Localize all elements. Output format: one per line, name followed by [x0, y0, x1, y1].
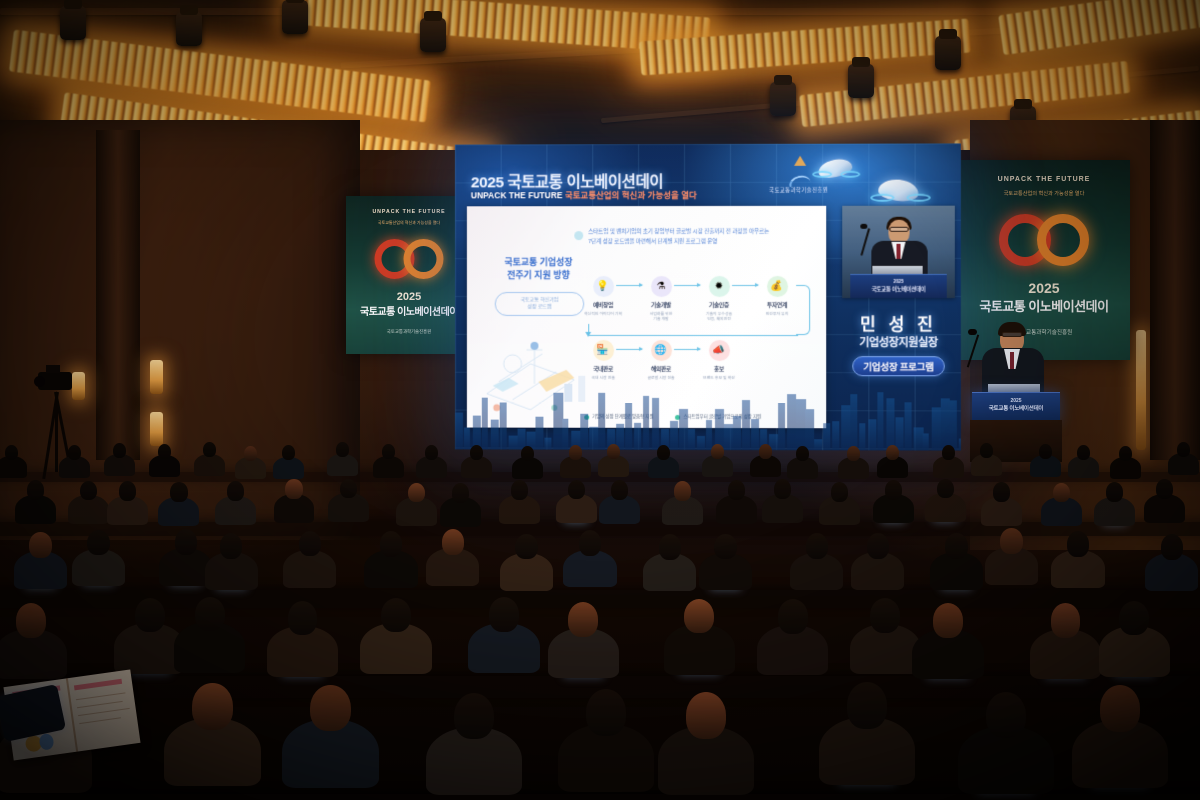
roadmap-pill: 국토교통 혁신기업 성장 로드맵 [495, 292, 585, 316]
audience-member-head [80, 481, 97, 501]
audience-member-head [336, 442, 349, 457]
audience-member-head [1100, 685, 1140, 732]
audience-member-head [220, 533, 242, 559]
audience-member-head [470, 445, 483, 460]
audience-member-head [454, 693, 494, 740]
flow-node-desc: 글로벌 시장 진출 [632, 374, 690, 380]
banner-en-tagline: UNPACK THE FUTURE [346, 209, 472, 215]
audience-member-head [29, 532, 51, 558]
infinity-logo [999, 214, 1089, 266]
audience-member-head [714, 534, 736, 560]
flow-node: 📣홍보브랜드 홍보 및 확산 [690, 340, 748, 380]
globe-icon: 🌐 [651, 340, 672, 361]
flow-node: ⚗기술개발사업화를 위한기술 개발 [632, 276, 690, 322]
banner-year: 2025 [958, 280, 1130, 296]
audience-member-head [993, 482, 1010, 502]
microphone-head-icon [860, 224, 867, 229]
kaia-logo-text: 국토교통과학기술진흥원 [769, 186, 828, 194]
event-banner-left: UNPACK THE FUTURE 국토교통산업의 혁신과 가능성을 열다 20… [346, 196, 472, 354]
lightbulb-icon: 💡 [593, 276, 614, 297]
audience-member-head [382, 444, 395, 459]
flow-node-label: 홍보 [690, 365, 748, 373]
audience-member-head [937, 479, 954, 499]
slide-description: 스타트업 및 벤처기업의 초기 창업부터 글로벌 시장 진출까지 전 과정을 아… [588, 228, 813, 248]
audience-member-head [684, 599, 714, 634]
podium-sign-title: 국토교통 이노베이션데이 [850, 285, 947, 293]
audience-member-head [521, 446, 534, 461]
audience-member-head [113, 443, 126, 458]
flow-row-lower: 🏪국내판로국내 시장 진출🌐해외판로글로벌 시장 진출📣홍보브랜드 홍보 및 확… [574, 340, 748, 380]
speaker-role: 기업성장지원실장 [842, 334, 955, 350]
audience-member-head [568, 480, 585, 500]
audience-member-head [288, 601, 318, 636]
audience-member-head [847, 446, 860, 461]
audience-member-head [1077, 445, 1090, 460]
audience-member-head [942, 445, 955, 460]
podium-microphone-head-icon [968, 329, 977, 335]
audience-member-head [847, 682, 887, 729]
audience-member-head [867, 533, 889, 559]
audience-member-head [945, 533, 967, 559]
stage-light [935, 36, 961, 70]
flow-node: 🌐해외판로글로벌 시장 진출 [632, 340, 690, 380]
flow-node-desc: 사업화를 위한기술 개발 [632, 310, 690, 322]
presenter-tie [1010, 352, 1014, 369]
camera-viewfinder [46, 365, 60, 373]
flask-icon: ⚗ [651, 276, 672, 297]
presenter-glasses [1002, 332, 1022, 337]
audience-member-head [515, 534, 537, 560]
audience-member-head [158, 444, 171, 459]
audience-member-head [569, 445, 582, 460]
audience-member-head [203, 442, 216, 457]
section-title-line1: 국토교통 기업성장 [485, 256, 592, 269]
speaker-video-feed: 2025 국토교통 이노베이션데이 [842, 206, 955, 298]
warning-triangle-icon [794, 156, 806, 166]
audience-member-head [380, 531, 402, 557]
microphone-stand [860, 228, 869, 255]
slide-header-subtitle: UNPACK THE FUTURE 국토교통산업의 혁신과 가능성을 열다 [471, 189, 697, 201]
audience-member-head [282, 445, 295, 460]
flow-node-label: 예비창업 [574, 301, 632, 309]
audience-member-head [227, 481, 244, 501]
subtitle-ko: 국토교통산업의 혁신과 가능성을 열다 [565, 190, 697, 200]
flow-arrow-head [585, 332, 591, 337]
audience-member-head [452, 483, 469, 503]
megaphone-icon: 📣 [708, 340, 729, 361]
audience-member-head [1177, 442, 1190, 457]
audience-desk [0, 590, 1200, 608]
audience-member-head [16, 603, 46, 638]
banner-ko-tagline: 국토교통산업의 혁신과 가능성을 열다 [346, 220, 472, 226]
banner-title: 국토교통 이노베이션데이 [346, 303, 472, 318]
audience-member-head [778, 599, 808, 634]
flow-node-desc: 혁신적인 아이디어 기획 [574, 310, 632, 316]
audience-member-head [674, 481, 691, 501]
flow-connector [796, 285, 810, 335]
audience-member-head [1106, 482, 1123, 502]
flow-node-desc: 국내 시장 진출 [574, 374, 632, 380]
pill-line1: 국토교통 혁신기업 [520, 297, 558, 304]
audience-member-head [885, 480, 902, 500]
flow-row-upper: 💡예비창업혁신적인 아이디어 기획⚗기술개발사업화를 위한기술 개발✹기술인증기… [574, 276, 806, 322]
flow-node-label: 국내판로 [574, 365, 632, 373]
stage-light [770, 82, 796, 116]
kaia-logo: 국토교통과학기술진흥원 [769, 176, 828, 194]
flow-node-label: 기술인증 [690, 301, 748, 309]
audience-member-head [119, 481, 136, 501]
audience-member-head [299, 531, 321, 557]
speaker-glasses [889, 227, 908, 232]
audience-member-head [1051, 603, 1081, 638]
audience-member-head [1156, 479, 1173, 499]
audience-member-head [1161, 534, 1183, 560]
audience-member-head [657, 445, 670, 460]
flow-connector [588, 324, 798, 336]
audience-member-head [135, 598, 165, 633]
audience-member-head [175, 529, 197, 555]
audience-member-head [192, 683, 232, 730]
stage-light [420, 18, 446, 52]
infinity-logo [375, 239, 444, 279]
audience-member-head [796, 446, 809, 461]
audience-desk [0, 794, 1200, 800]
store-icon: 🏪 [593, 340, 614, 361]
stage-light [176, 12, 202, 46]
audience-member-head [68, 445, 81, 460]
audience-member-head [728, 480, 745, 500]
camera-lens-icon [34, 376, 45, 387]
description-line2: 7단계 성장 로드맵을 마련해서 단계별 지원 프로그램 운영 [588, 238, 813, 248]
audience-member-head [586, 689, 626, 736]
podium-sign-year: 2025 [850, 279, 947, 284]
subtitle-en: UNPACK THE FUTURE [471, 190, 563, 200]
certification-icon: ✹ [708, 276, 729, 297]
audience-member-head [568, 602, 598, 637]
audience-member-head [870, 598, 900, 633]
audience-member-head [195, 597, 225, 632]
audience-member-head [285, 479, 302, 499]
banner-year: 2025 [346, 291, 472, 303]
audience-member-head [310, 685, 350, 732]
stage-light [60, 6, 86, 40]
audience-member-head [5, 445, 18, 460]
audience-member-head [489, 597, 519, 632]
investment-hand-icon: 💰 [767, 276, 788, 297]
description-line1: 스타트업 및 벤처기업의 초기 창업부터 글로벌 시장 진출까지 전 과정을 아… [588, 228, 813, 238]
audience-member-head [425, 445, 438, 460]
banner-ko-tagline: 국토교통산업의 혁신과 가능성을 열다 [958, 190, 1130, 197]
stage-light [848, 64, 874, 98]
audience-member-head [340, 479, 357, 499]
flow-node: 💡예비창업혁신적인 아이디어 기획 [574, 276, 632, 322]
audience-member-head [1067, 531, 1089, 557]
pill-line2: 성장 로드맵 [520, 304, 558, 311]
audience-member-head [986, 692, 1026, 739]
audience-member-head [774, 479, 791, 499]
uam-rotor-ring [870, 194, 894, 202]
audience-member-head [511, 480, 528, 500]
audience-member-head [980, 443, 993, 458]
flow-node-desc: 브랜드 홍보 및 확산 [690, 374, 748, 380]
audience-member-head [759, 444, 772, 459]
audience-member-head [933, 603, 963, 638]
audience-member-head [579, 530, 601, 556]
audience-seating [0, 400, 1200, 800]
audience-member-head [1119, 601, 1149, 636]
flow-node: ✹기술인증기술의 우수성을인증, 해외진전 [690, 276, 748, 322]
flow-node-label: 해외판로 [632, 365, 690, 373]
audience-member-head [170, 482, 187, 502]
audience-member-head [711, 444, 724, 459]
audience-member-head [408, 483, 425, 503]
audience-member-head [442, 529, 464, 555]
audience-member-head [886, 445, 899, 460]
speaker-topic-badge: 기업성장 프로그램 [852, 356, 945, 376]
audience-member-head [1039, 444, 1052, 459]
podium-laptop [872, 266, 922, 274]
description-bullet-icon [574, 231, 583, 240]
audience-member-head [831, 482, 848, 502]
audience-member-head [381, 598, 411, 633]
audience-member-head [611, 480, 628, 500]
audience-member-head [1053, 483, 1070, 503]
uam-rotor-ring [907, 194, 931, 202]
conference-hall-scene: UNPACK THE FUTURE 국토교통산업의 혁신과 가능성을 열다 20… [0, 0, 1200, 800]
banner-org: 국토교통과학기술진흥원 [346, 329, 472, 335]
audience-member-head [686, 692, 726, 739]
audience-member-head [27, 480, 44, 500]
flow-node-desc: 기술의 우수성을인증, 해외진전 [690, 310, 748, 322]
banner-en-tagline: UNPACK THE FUTURE [958, 176, 1130, 183]
speaker-name: 민 성 진 [842, 310, 955, 335]
audience-member-head [1000, 528, 1022, 554]
audience-member-head [244, 446, 257, 461]
audience-member-head [87, 530, 109, 556]
audience-member-head [1119, 446, 1132, 461]
audience-member-head [659, 534, 681, 560]
podium-microphone [967, 335, 979, 368]
flow-node: 🏪국내판로국내 시장 진출 [574, 340, 632, 380]
uam-rotor-ring [840, 171, 860, 178]
audience-member-head [806, 533, 828, 559]
wall-sconce [150, 360, 163, 394]
flow-node-label: 기술개발 [632, 301, 690, 309]
stage-light [282, 0, 308, 34]
podium-sign: 2025 국토교통 이노베이션데이 [850, 274, 947, 298]
audience-member-head [607, 444, 620, 459]
speaker-tie [896, 244, 900, 259]
